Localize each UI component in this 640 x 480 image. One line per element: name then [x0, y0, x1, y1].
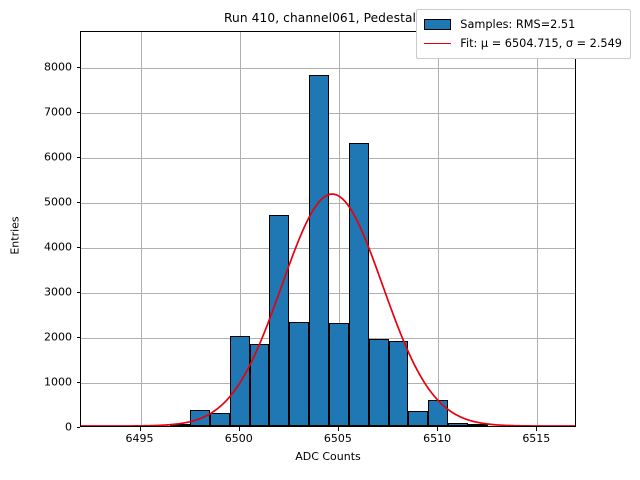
- y-tick-mark: [77, 247, 81, 248]
- gaussian-fit-curve: [81, 32, 575, 426]
- y-tick-mark: [77, 202, 81, 203]
- y-tick-label: 4000: [44, 241, 72, 254]
- y-tick-mark: [77, 292, 81, 293]
- y-tick-label: 7000: [44, 106, 72, 119]
- y-tick-label: 1000: [44, 376, 72, 389]
- y-tick-label: 0: [65, 421, 72, 434]
- x-tick-label: 6515: [522, 432, 550, 445]
- legend-line-icon: [424, 43, 451, 44]
- x-axis-label: ADC Counts: [80, 450, 576, 463]
- legend-item-fit: Fit: μ = 6504.715, σ = 2.549: [424, 34, 622, 53]
- y-tick-mark: [77, 67, 81, 68]
- y-tick-mark: [77, 112, 81, 113]
- x-tick-label: 6510: [423, 432, 451, 445]
- legend-item-samples: Samples: RMS=2.51: [424, 15, 622, 34]
- legend-label-fit: Fit: μ = 6504.715, σ = 2.549: [460, 37, 622, 50]
- chart-legend: Samples: RMS=2.51 Fit: μ = 6504.715, σ =…: [416, 9, 631, 59]
- x-tick-mark: [239, 427, 240, 431]
- x-tick-label: 6500: [225, 432, 253, 445]
- chart-figure: Run 410, channel061, Pedestal 6495650065…: [0, 0, 640, 480]
- y-tick-label: 3000: [44, 286, 72, 299]
- x-tick-label: 6505: [324, 432, 352, 445]
- x-tick-label: 6495: [126, 432, 154, 445]
- legend-patch-icon: [424, 19, 451, 30]
- y-tick-mark: [77, 157, 81, 158]
- x-tick-mark: [140, 427, 141, 431]
- plot-area: [80, 31, 576, 427]
- y-tick-mark: [77, 337, 81, 338]
- y-tick-label: 8000: [44, 61, 72, 74]
- y-tick-label: 2000: [44, 331, 72, 344]
- x-tick-mark: [536, 427, 537, 431]
- y-tick-label: 6000: [44, 151, 72, 164]
- x-tick-mark: [338, 427, 339, 431]
- y-tick-mark: [77, 382, 81, 383]
- y-tick-mark: [77, 427, 81, 428]
- y-tick-label: 5000: [44, 196, 72, 209]
- x-tick-mark: [437, 427, 438, 431]
- legend-label-samples: Samples: RMS=2.51: [460, 18, 575, 31]
- y-axis-label: Entries: [9, 216, 22, 254]
